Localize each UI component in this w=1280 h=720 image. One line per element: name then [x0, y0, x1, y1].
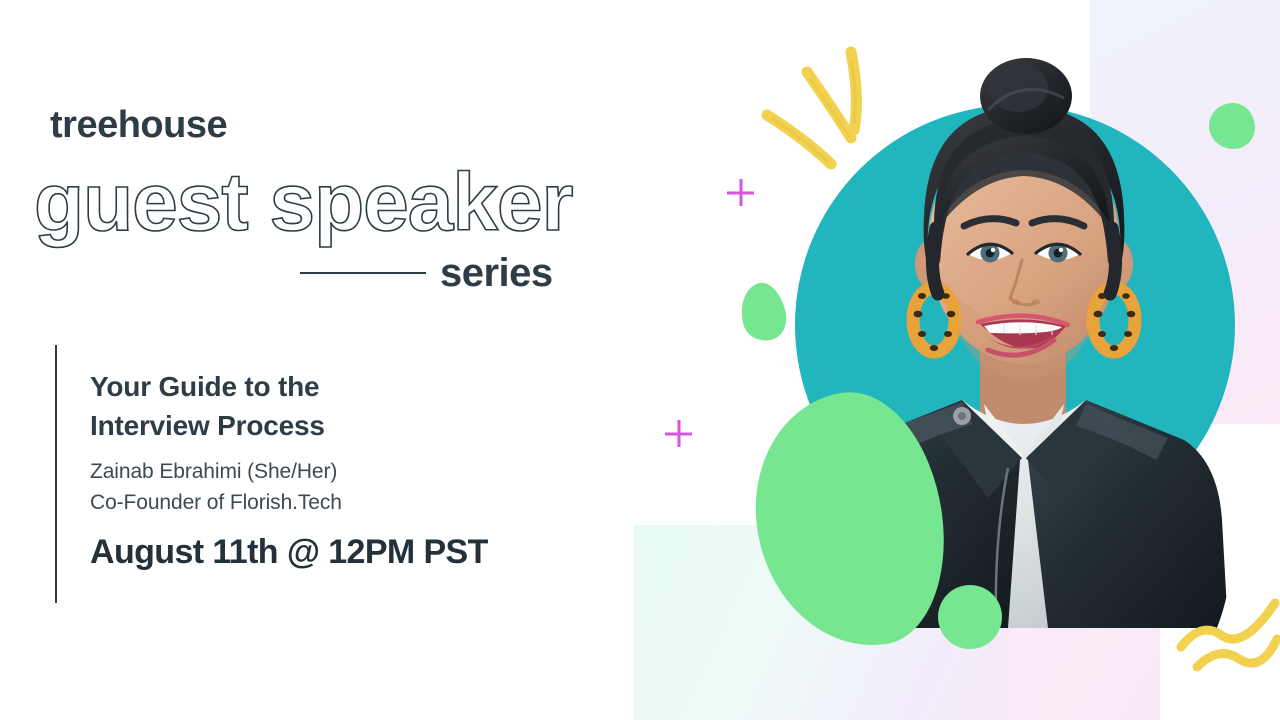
- event-datetime: August 11th @ 12PM PST: [90, 534, 610, 571]
- series-row: series: [300, 253, 625, 293]
- speaker-details: Zainab Ebrahimi (She/Her) Co-Founder of …: [90, 457, 610, 518]
- talk-title-line-2: Interview Process: [90, 407, 610, 446]
- brand-wordmark: treehouse: [50, 106, 227, 144]
- speaker-role: Co-Founder of Florish.Tech: [90, 488, 610, 518]
- session-info: Your Guide to the Interview Process Zain…: [90, 368, 610, 572]
- flyer-canvas: treehouse guest speaker series Your Guid…: [0, 0, 1280, 720]
- green-blob-small-icon: [735, 279, 792, 346]
- headline-outline: guest speaker: [34, 160, 573, 246]
- green-dot-bottom-icon: [938, 585, 1002, 649]
- wavy-line-icon: [1175, 595, 1280, 675]
- vertical-divider: [55, 345, 57, 603]
- plus-mark-lower-icon: [665, 420, 692, 447]
- series-divider-rule: [300, 272, 426, 274]
- talk-title: Your Guide to the Interview Process: [90, 368, 610, 445]
- plus-mark-upper-icon: [727, 179, 754, 206]
- speaker-name: Zainab Ebrahimi (She/Her): [90, 457, 610, 487]
- series-word: series: [440, 253, 553, 293]
- talk-title-line-1: Your Guide to the: [90, 368, 610, 407]
- sparkle-strokes-icon: [755, 40, 885, 175]
